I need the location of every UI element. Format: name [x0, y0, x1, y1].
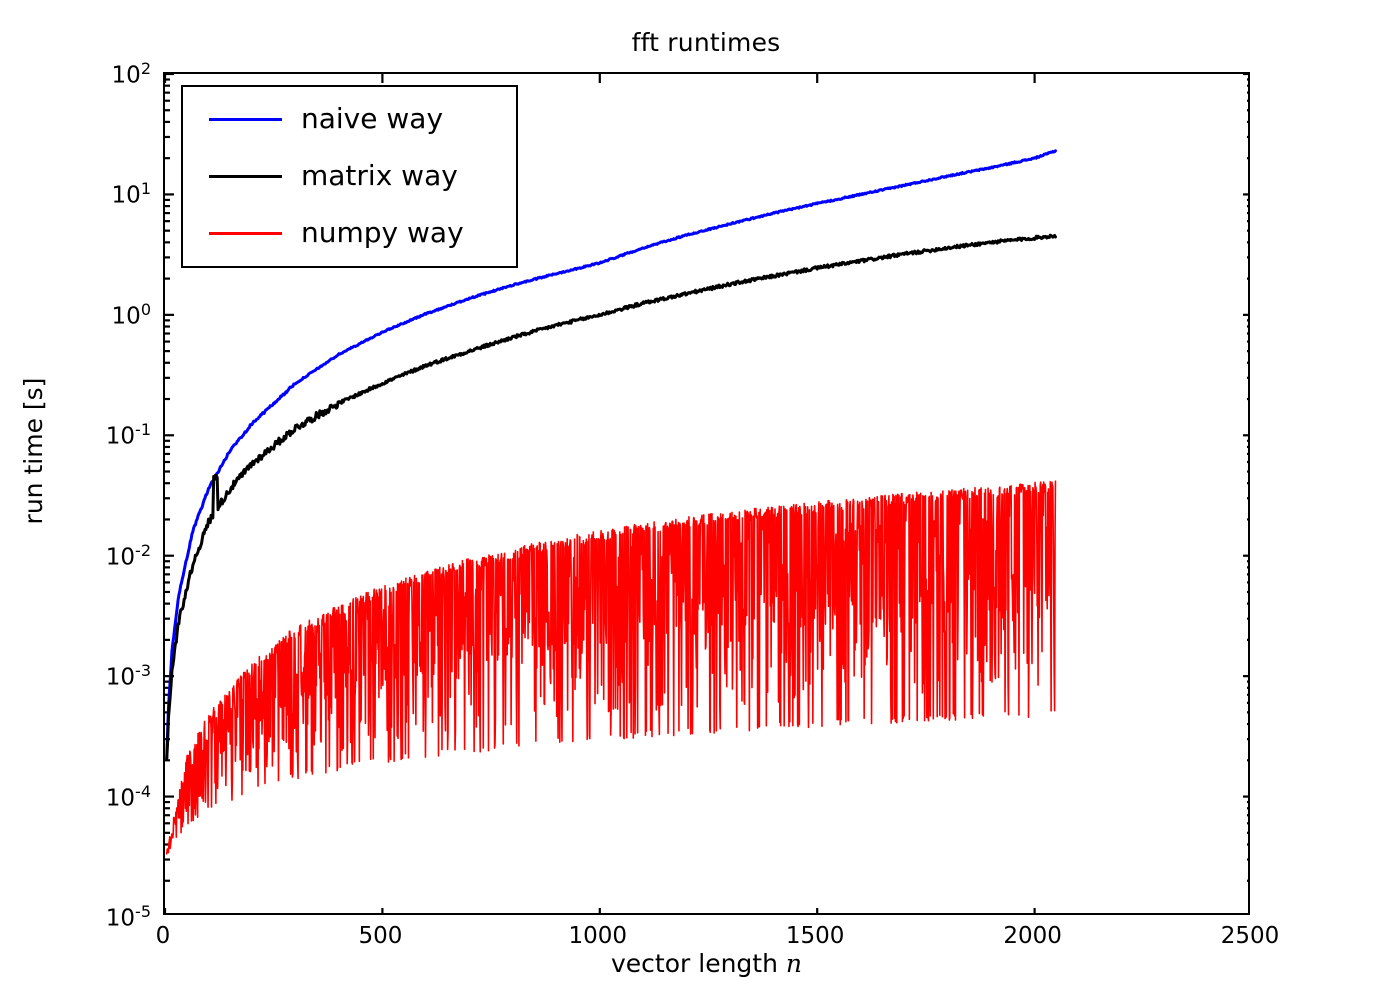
legend-item[interactable]: numpy way: [183, 203, 520, 264]
x-tick-label: 1500: [715, 925, 915, 948]
y-tick-label-exponent: -5: [135, 902, 151, 921]
x-tick-label: 500: [280, 925, 480, 948]
legend-label: naive way: [301, 100, 443, 138]
chart-title: fft runtimes: [18, 28, 1376, 58]
y-tick-label-exponent: -2: [135, 541, 151, 560]
y-tick-label-exponent: 0: [141, 300, 151, 319]
y-tick-label: 10-4: [106, 780, 151, 811]
legend-label: matrix way: [301, 157, 458, 195]
y-tick-label-exponent: -1: [135, 420, 151, 439]
legend-line-swatch: [209, 175, 282, 178]
y-tick-label-base: 10: [112, 63, 141, 89]
y-tick-label-exponent: 1: [141, 179, 151, 198]
y-tick-label: 100: [112, 298, 151, 329]
y-axis-label: run time [s]: [20, 251, 48, 651]
y-tick-label-base: 10: [106, 424, 135, 450]
series-line-numpy-way: [167, 481, 1056, 854]
x-tick-label: 2500: [1150, 925, 1350, 948]
y-tick-label-base: 10: [106, 544, 135, 570]
y-tick-label-exponent: 2: [141, 59, 151, 78]
y-tick-label: 10-2: [106, 539, 151, 570]
figure-canvas: fft runtimes run time [s] vector length …: [0, 0, 1376, 995]
y-tick-label: 102: [112, 57, 151, 88]
y-tick-label-base: 10: [112, 304, 141, 330]
y-tick-label-base: 10: [106, 785, 135, 811]
legend-line-swatch: [209, 232, 282, 235]
x-axis-label: vector length n: [163, 950, 1250, 978]
y-tick-label: 10-3: [106, 659, 151, 690]
x-axis-label-math: n: [786, 949, 802, 978]
x-tick-label: 1000: [498, 925, 698, 948]
y-tick-label-exponent: -3: [135, 661, 151, 680]
legend-item[interactable]: matrix way: [183, 146, 520, 207]
legend-box[interactable]: naive waymatrix waynumpy way: [181, 85, 518, 268]
y-tick-label-base: 10: [106, 665, 135, 691]
y-tick-label: 10-1: [106, 418, 151, 449]
x-axis-label-text: vector length: [611, 949, 786, 978]
y-tick-label-exponent: -4: [135, 782, 151, 801]
x-tick-label: 2000: [933, 925, 1133, 948]
y-tick-label: 101: [112, 177, 151, 208]
x-tick-label: 0: [63, 925, 263, 948]
legend-item[interactable]: naive way: [183, 89, 520, 150]
legend-label: numpy way: [301, 214, 464, 252]
y-tick-label-base: 10: [112, 183, 141, 209]
legend-line-swatch: [209, 118, 282, 121]
